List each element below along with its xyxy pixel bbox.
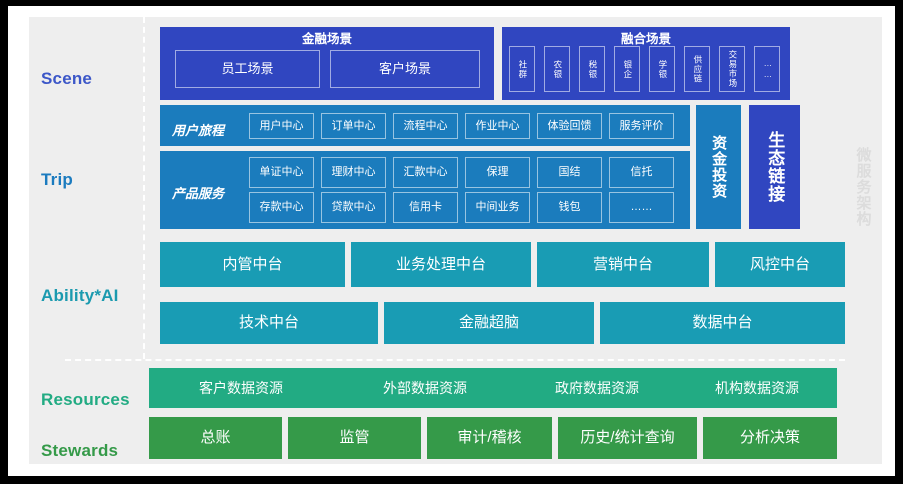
trip-capital-investment-column[interactable]: 资金投资 [696,105,741,229]
ability-r1-item-0[interactable]: 内管中台 [160,242,345,287]
stewards-item-3[interactable]: 历史/统计查询 [558,417,697,459]
resources-item-0[interactable]: 客户数据资源 [149,368,333,408]
row-label-scene: Scene [41,69,159,89]
scene-fusion-item-2[interactable]: 税银 [579,46,605,92]
scene-fusion-item-6[interactable]: 交易市场 [719,46,745,92]
horizontal-dashed-divider [65,359,845,361]
resources-item-1[interactable]: 外部数据资源 [333,368,517,408]
trip-product-r2-item-0[interactable]: 存款中心 [249,192,314,223]
trip-journey-item-5[interactable]: 服务评价 [609,113,674,139]
resources-item-2[interactable]: 政府数据资源 [517,368,677,408]
trip-journey-item-2[interactable]: 流程中心 [393,113,458,139]
row-label-trip: Trip [41,170,159,190]
trip-product-r2-item-1[interactable]: 贷款中心 [321,192,386,223]
row-label-ability: Ability*AI [41,286,159,306]
trip-eco-link-column[interactable]: 生态链接 [749,105,800,229]
ability-r2-item-1[interactable]: 金融超脑 [384,302,594,344]
scene-fusion-item-0[interactable]: 社群 [509,46,535,92]
trip-journey-item-4[interactable]: 体验回馈 [537,113,602,139]
scene-financial-item-1[interactable]: 客户场景 [330,50,480,88]
trip-product-r2-item-2[interactable]: 信用卡 [393,192,458,223]
ability-r1-item-1[interactable]: 业务处理中台 [351,242,531,287]
ability-r2-item-0[interactable]: 技术中台 [160,302,378,344]
stewards-item-1[interactable]: 监管 [288,417,421,459]
vertical-dashed-divider [143,17,145,359]
stewards-item-0[interactable]: 总账 [149,417,282,459]
trip-product-r1-item-4[interactable]: 国结 [537,157,602,188]
trip-journey-item-1[interactable]: 订单中心 [321,113,386,139]
trip-product-service-name: 产品服务 [172,183,224,202]
trip-journey-item-0[interactable]: 用户中心 [249,113,314,139]
stewards-item-2[interactable]: 审计/稽核 [427,417,552,459]
page-frame: Scene Trip Ability*AI Resources Stewards… [8,6,895,476]
ability-r1-item-3[interactable]: 风控中台 [715,242,845,287]
scene-financial-item-0[interactable]: 员工场景 [175,50,320,88]
trip-product-r2-item-3[interactable]: 中间业务 [465,192,530,223]
resources-item-3[interactable]: 机构数据资源 [677,368,837,408]
trip-product-r1-item-5[interactable]: 信托 [609,157,674,188]
scene-fusion-item-1[interactable]: 农银 [544,46,570,92]
scene-financial-title: 金融场景 [160,32,494,46]
row-label-resources: Resources [41,390,159,410]
architecture-diagram-canvas: Scene Trip Ability*AI Resources Stewards… [29,17,882,464]
scene-fusion-item-7[interactable]: …… [754,46,780,92]
trip-product-r1-item-2[interactable]: 汇款中心 [393,157,458,188]
microservice-architecture-watermark: 微服务架构 [850,109,876,264]
row-label-stewards: Stewards [41,441,159,461]
trip-product-r2-item-4[interactable]: 钱包 [537,192,602,223]
scene-fusion-item-3[interactable]: 银企 [614,46,640,92]
trip-product-r1-item-0[interactable]: 单证中心 [249,157,314,188]
trip-product-r1-item-3[interactable]: 保理 [465,157,530,188]
scene-fusion-item-4[interactable]: 学银 [649,46,675,92]
stewards-item-4[interactable]: 分析决策 [703,417,837,459]
trip-product-r1-item-1[interactable]: 理财中心 [321,157,386,188]
scene-fusion-item-5[interactable]: 供应链 [684,46,710,92]
trip-product-r2-item-5[interactable]: …… [609,192,674,223]
ability-r1-item-2[interactable]: 营销中台 [537,242,709,287]
trip-journey-item-3[interactable]: 作业中心 [465,113,530,139]
scene-fusion-title: 融合场景 [502,32,790,46]
trip-user-journey-name: 用户旅程 [172,120,224,139]
ability-r2-item-2[interactable]: 数据中台 [600,302,845,344]
